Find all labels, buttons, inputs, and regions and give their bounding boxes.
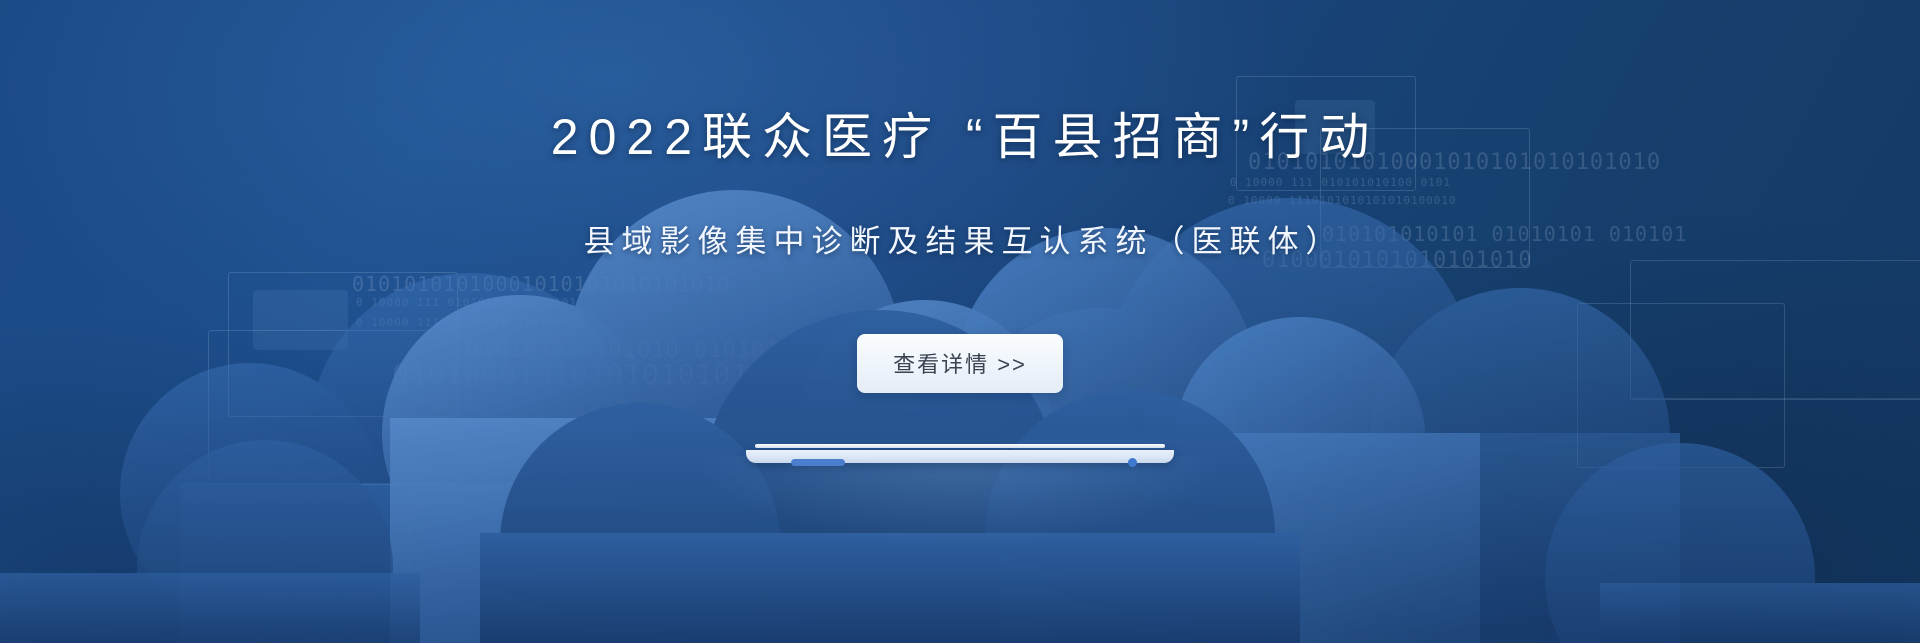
banner-content: 2022联众医疗 “百县招商”行动 县域影像集中诊断及结果互认系统（医联体） 查… xyxy=(0,0,1920,643)
banner-title: 2022联众医疗 “百县招商”行动 xyxy=(541,112,1379,162)
banner-subtitle: 县域影像集中诊断及结果互认系统（医联体） xyxy=(577,226,1344,257)
view-details-button[interactable]: 查看详情 >> xyxy=(857,334,1063,393)
cta-container: 查看详情 >> xyxy=(857,334,1063,393)
promo-banner: 01010101010001010101010101010 0 10000 11… xyxy=(0,0,1920,643)
